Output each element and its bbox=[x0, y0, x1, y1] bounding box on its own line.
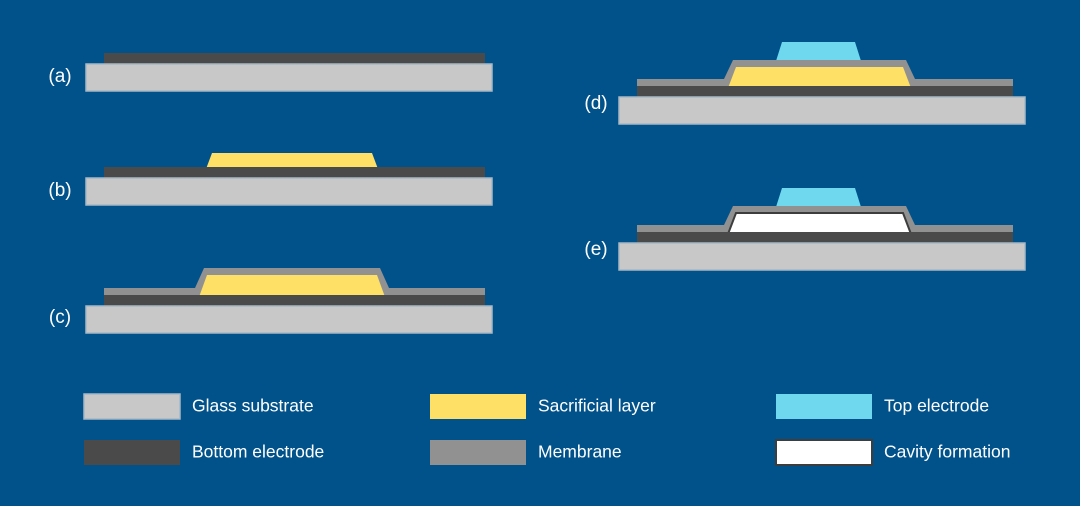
legend-swatch-top-electrode bbox=[776, 394, 872, 419]
panel-b-label: (b) bbox=[48, 180, 71, 201]
panel-a: (a) bbox=[48, 53, 492, 91]
legend-swatch-membrane bbox=[430, 440, 526, 465]
legend: Glass substrate Bottom electrode Sacrifi… bbox=[84, 394, 1010, 465]
panel-e-glass-substrate bbox=[619, 243, 1025, 270]
legend-item-cavity-formation: Cavity formation bbox=[776, 440, 1010, 465]
panel-a-glass-substrate bbox=[86, 64, 492, 91]
legend-label-top-electrode: Top electrode bbox=[884, 396, 989, 416]
panel-b: (b) bbox=[48, 153, 492, 205]
panel-d-top-electrode bbox=[776, 42, 861, 61]
legend-label-bottom-electrode: Bottom electrode bbox=[192, 442, 324, 462]
panel-e-label: (e) bbox=[584, 239, 607, 260]
legend-swatch-cavity-formation bbox=[776, 440, 872, 465]
panel-e-top-electrode bbox=[776, 188, 861, 207]
panel-c: (c) bbox=[49, 268, 492, 333]
panel-c-label: (c) bbox=[49, 307, 71, 328]
panel-b-glass-substrate bbox=[86, 178, 492, 205]
panel-e: (e) bbox=[584, 188, 1025, 270]
panel-c-sacrificial-layer bbox=[199, 275, 385, 297]
panel-d: (d) bbox=[584, 42, 1025, 124]
panel-c-bottom-electrode bbox=[104, 295, 485, 306]
legend-item-glass-substrate: Glass substrate bbox=[84, 394, 314, 419]
legend-label-glass-substrate: Glass substrate bbox=[192, 396, 314, 416]
legend-item-top-electrode: Top electrode bbox=[776, 394, 989, 419]
legend-swatch-glass-substrate bbox=[84, 394, 180, 419]
legend-label-sacrificial-layer: Sacrificial layer bbox=[538, 396, 656, 416]
panel-d-bottom-electrode bbox=[637, 86, 1013, 97]
panel-d-label: (d) bbox=[584, 93, 607, 114]
legend-item-membrane: Membrane bbox=[430, 440, 622, 465]
process-flow-figure: (a) (b) (c) (d) bbox=[0, 0, 1080, 506]
panel-e-cavity-formation bbox=[728, 213, 911, 234]
panel-d-glass-substrate bbox=[619, 97, 1025, 124]
panel-a-bottom-electrode bbox=[104, 53, 485, 64]
legend-swatch-sacrificial-layer bbox=[430, 394, 526, 419]
legend-swatch-bottom-electrode bbox=[84, 440, 180, 465]
panel-d-sacrificial-layer bbox=[728, 67, 911, 88]
legend-item-sacrificial-layer: Sacrificial layer bbox=[430, 394, 656, 419]
panel-b-bottom-electrode bbox=[104, 167, 485, 178]
panel-c-glass-substrate bbox=[86, 306, 492, 333]
panel-a-label: (a) bbox=[48, 66, 71, 87]
legend-label-membrane: Membrane bbox=[538, 442, 622, 462]
legend-label-cavity-formation: Cavity formation bbox=[884, 442, 1010, 462]
legend-item-bottom-electrode: Bottom electrode bbox=[84, 440, 324, 465]
panel-e-bottom-electrode bbox=[637, 232, 1013, 243]
